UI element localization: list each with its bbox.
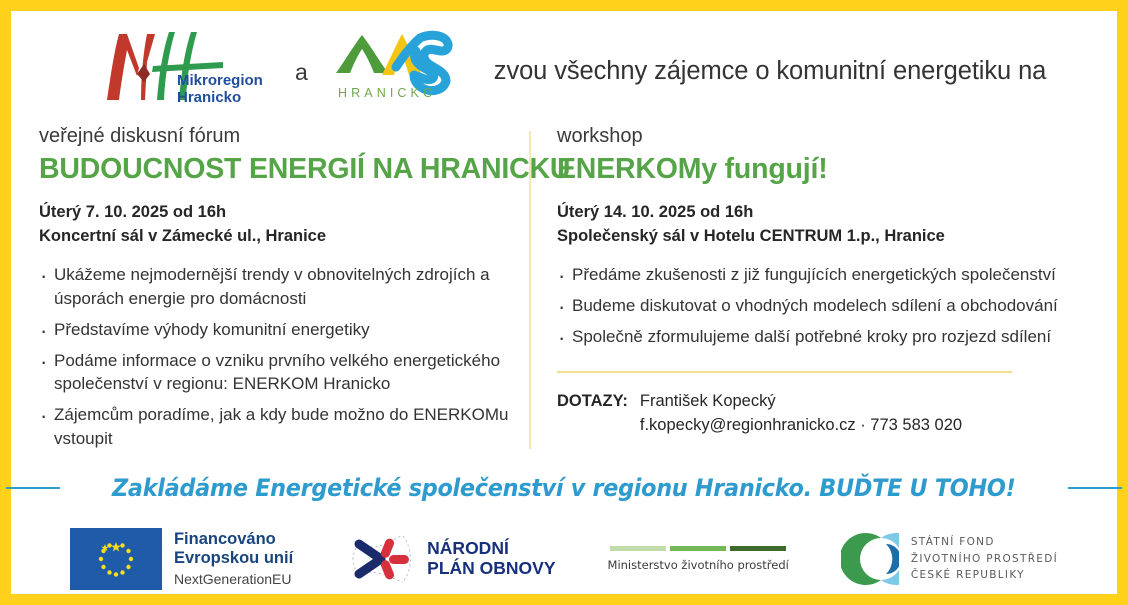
workshop-date: Úterý 14. 10. 2025 od 16h [557, 201, 1083, 225]
contact-email-phone[interactable]: f.kopecky@regionhranicko.cz · 773 583 02… [640, 413, 962, 438]
poster-frame: Mikroregion Hranicko a HRANICKO zvou vše… [0, 0, 1128, 605]
tagline-row: Zakládáme Energetické společenství v reg… [11, 474, 1117, 502]
sfzp-line3: ČESKÉ REPUBLIKY [911, 567, 1058, 583]
eu-flag-icon [70, 528, 162, 590]
forum-date: Úterý 7. 10. 2025 od 16h [39, 201, 513, 225]
workshop-title: ENERKOMy fungují! [557, 154, 1083, 185]
eu-line2: Evropskou unií [174, 549, 293, 568]
mzp-caption: Ministerstvo životního prostředí [608, 558, 789, 572]
column-workshop: workshop ENERKOMy fungují! Úterý 14. 10.… [531, 125, 1097, 458]
mzp-logo: Ministerstvo životního prostředí [608, 546, 789, 572]
mh-logo-line1: Mikroregion [177, 72, 263, 89]
npo-mark-icon [345, 528, 419, 590]
dash-left-icon [6, 487, 60, 489]
mh-logo-line2: Hranicko [177, 89, 241, 106]
npo-line2: PLÁN OBNOVY [427, 559, 555, 579]
list-item: Společně zformulujeme další potřebné kro… [557, 325, 1083, 349]
mikroregion-hranicko-logo: Mikroregion Hranicko [97, 26, 265, 106]
contact-separator [557, 371, 1012, 373]
sfzp-line1: STÁTNÍ FOND [911, 534, 1058, 550]
footer-logos: Financováno Evropskou unií NextGeneratio… [11, 528, 1117, 590]
workshop-venue: Společenský sál v Hotelu CENTRUM 1.p., H… [557, 225, 1083, 249]
sfzp-ring-icon [841, 530, 899, 588]
conjunction-a: a [295, 59, 308, 86]
list-item: Zájemcům poradíme, jak a kdy bude možno … [39, 403, 513, 451]
workshop-when: Úterý 14. 10. 2025 od 16h Společenský sá… [557, 201, 1083, 249]
mas-hranicko-logo: HRANICKO [330, 29, 470, 103]
forum-title: BUDOUCNOST ENERGIÍ NA HRANICKU [39, 154, 513, 185]
workshop-kicker: workshop [557, 125, 1083, 148]
forum-kicker: veřejné diskusní fórum [39, 125, 513, 148]
mas-logo-subtitle: HRANICKO [338, 86, 437, 100]
content-columns: veřejné diskusní fórum BUDOUCNOST ENERGI… [11, 125, 1117, 458]
eu-line3: NextGenerationEU [174, 571, 293, 587]
list-item: Podáme informace o vzniku prvního velkéh… [39, 349, 513, 397]
npo-line1: NÁRODNÍ [427, 539, 555, 559]
column-forum: veřejné diskusní fórum BUDOUCNOST ENERGI… [11, 125, 529, 458]
sfzp-logo: STÁTNÍ FOND ŽIVOTNÍHO PROSTŘEDÍ ČESKÉ RE… [841, 530, 1058, 588]
sfzp-line2: ŽIVOTNÍHO PROSTŘEDÍ [911, 551, 1058, 567]
forum-when: Úterý 7. 10. 2025 od 16h Koncertní sál v… [39, 201, 513, 249]
contact-label: DOTAZY: [557, 389, 628, 439]
list-item: Předáme zkušenosti z již fungujících ene… [557, 263, 1083, 287]
eu-funding-logo: Financováno Evropskou unií NextGeneratio… [70, 528, 293, 590]
poster-header: Mikroregion Hranicko a HRANICKO zvou vše… [11, 11, 1117, 107]
forum-points: Ukážeme nejmodernější trendy v obnovitel… [39, 263, 513, 451]
invitation-text: zvou všechny zájemce o komunitní energet… [494, 57, 1046, 86]
npo-logo: NÁRODNÍ PLÁN OBNOVY [345, 528, 555, 590]
list-item: Představíme výhody komunitní energetiky [39, 318, 513, 342]
contact-name: František Kopecký [640, 389, 962, 414]
mzp-bars-icon [608, 546, 789, 551]
forum-venue: Koncertní sál v Zámecké ul., Hranice [39, 225, 513, 249]
workshop-points: Předáme zkušenosti z již fungujících ene… [557, 263, 1083, 348]
list-item: Budeme diskutovat o vhodných modelech sd… [557, 294, 1083, 318]
dash-right-icon [1068, 487, 1122, 489]
tagline-text: Zakládáme Energetické společenství v reg… [112, 474, 1015, 502]
eu-line1: Financováno [174, 530, 293, 549]
list-item: Ukážeme nejmodernější trendy v obnovitel… [39, 263, 513, 311]
contact-block: DOTAZY: František Kopecký f.kopecky@regi… [557, 389, 1083, 439]
